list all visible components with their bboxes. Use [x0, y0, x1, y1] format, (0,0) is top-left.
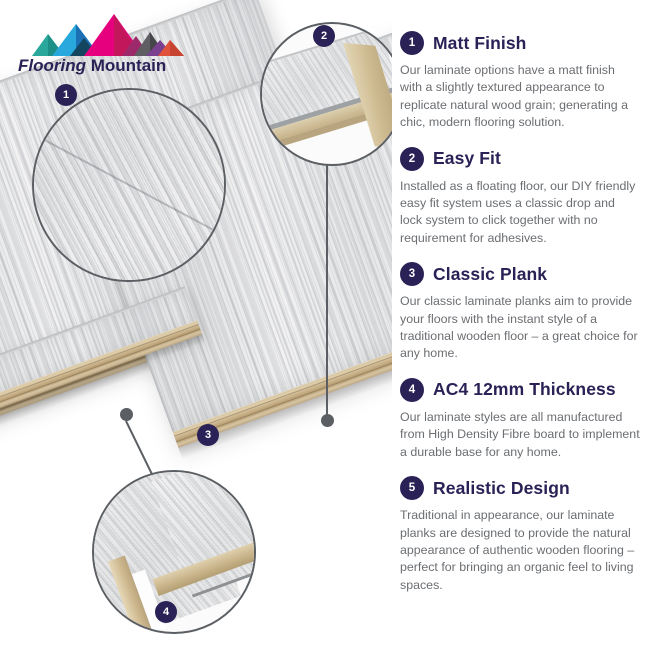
image-marker-3: 3: [197, 424, 219, 446]
feature-title: Realistic Design: [433, 478, 570, 499]
feature-header: 4 AC4 12mm Thickness: [400, 377, 640, 403]
feature-item-thickness: 4 AC4 12mm Thickness Our laminate styles…: [400, 377, 640, 461]
brand-logo[interactable]: Flooring Mountain: [18, 12, 188, 78]
feature-item-easy-fit: 2 Easy Fit Installed as a floating floor…: [400, 146, 640, 248]
feature-description: Our laminate styles are all manufactured…: [400, 409, 640, 461]
feature-item-matt-finish: 1 Matt Finish Our laminate options have …: [400, 30, 640, 132]
feature-title: AC4 12mm Thickness: [433, 379, 616, 400]
callout-circle-matt-finish: [32, 88, 226, 282]
feature-number-badge: 5: [400, 476, 424, 500]
feature-description: Traditional in appearance, our laminate …: [400, 507, 640, 594]
brand-wordmark: Flooring Mountain: [18, 56, 188, 76]
image-marker-2: 2: [313, 25, 335, 47]
product-feature-infographic: 1 2 3 4 Flooring Mounta: [0, 0, 650, 650]
feature-item-classic-plank: 3 Classic Plank Our classic laminate pla…: [400, 261, 640, 363]
brand-word-flooring: Flooring: [18, 56, 86, 75]
feature-item-realistic-design: 5 Realistic Design Traditional in appear…: [400, 475, 640, 594]
feature-title: Matt Finish: [433, 33, 526, 54]
feature-number-badge: 4: [400, 378, 424, 402]
feature-header: 3 Classic Plank: [400, 261, 640, 287]
feature-header: 2 Easy Fit: [400, 146, 640, 172]
leader-line-callout-2: [326, 162, 328, 421]
feature-header: 1 Matt Finish: [400, 30, 640, 56]
leader-dot-callout-4: [120, 408, 133, 421]
image-marker-4: 4: [155, 601, 177, 623]
feature-title: Classic Plank: [433, 264, 547, 285]
image-marker-1: 1: [55, 84, 77, 106]
feature-description: Our classic laminate planks aim to provi…: [400, 293, 640, 363]
leader-dot-callout-2: [321, 414, 334, 427]
feature-header: 5 Realistic Design: [400, 475, 640, 501]
feature-list: 1 Matt Finish Our laminate options have …: [400, 30, 640, 608]
feature-description: Installed as a floating floor, our DIY f…: [400, 178, 640, 248]
feature-number-badge: 3: [400, 262, 424, 286]
feature-number-badge: 2: [400, 147, 424, 171]
brand-word-mountain: Mountain: [91, 56, 167, 75]
laminate-flooring-photo: 1 2 3 4 Flooring Mounta: [0, 0, 392, 650]
mountain-logo-icon: [18, 12, 188, 58]
feature-description: Our laminate options have a matt finish …: [400, 62, 640, 132]
feature-title: Easy Fit: [433, 148, 501, 169]
feature-number-badge: 1: [400, 31, 424, 55]
